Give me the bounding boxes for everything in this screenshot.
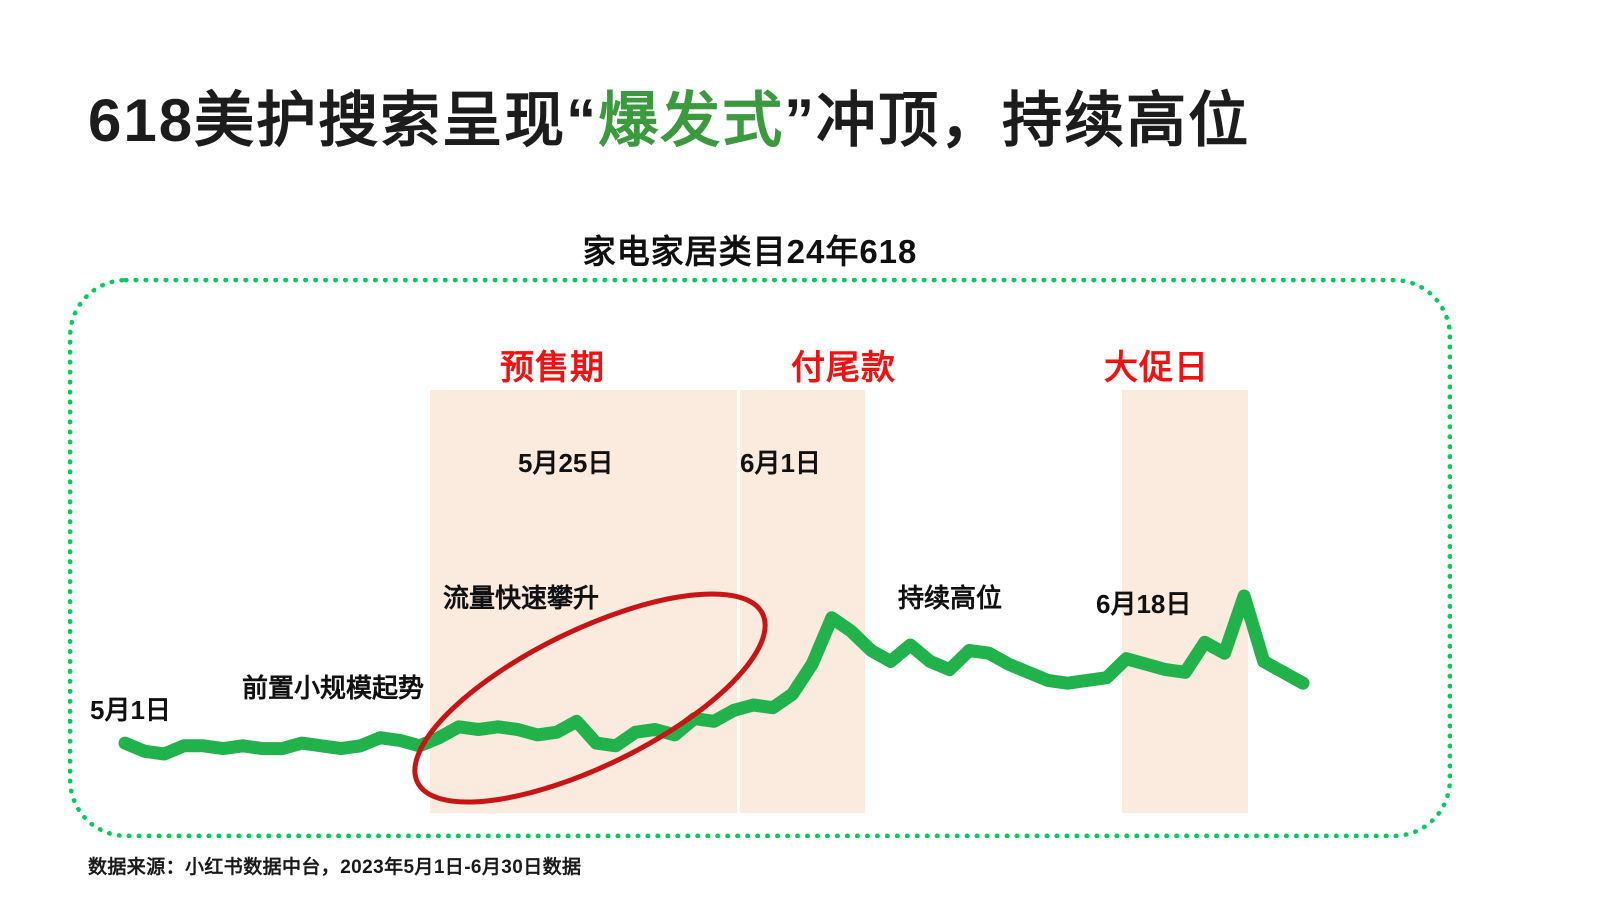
slide-canvas: 618美护搜索呈现“爆发式”冲顶，持续高位 家电家居类目24年618 预售期 付… xyxy=(0,0,1600,900)
chart-plot-area: 预售期 付尾款 大促日 5月1日 5月25日 6月1日 6月18日 前置小规模起… xyxy=(68,278,1452,840)
date-label-may-1: 5月1日 xyxy=(90,690,171,727)
annotation-early-buildup: 前置小规模起势 xyxy=(242,668,424,705)
date-label-may-25: 5月25日 xyxy=(518,443,613,480)
title-accent-text: 爆发式 xyxy=(598,87,784,154)
annotation-sustained-high: 持续高位 xyxy=(898,578,1002,615)
date-label-jun-18: 6月18日 xyxy=(1096,584,1191,621)
title-quote-open: “ xyxy=(566,87,598,154)
phase-label-presale: 预售期 xyxy=(500,340,605,389)
phase-label-promo-day: 大促日 xyxy=(1104,340,1209,389)
date-label-jun-1: 6月1日 xyxy=(740,443,821,480)
title-quote-close: ” xyxy=(784,87,816,154)
title-part-after: 冲顶，持续高位 xyxy=(816,87,1250,154)
page-title: 618美护搜索呈现“爆发式”冲顶，持续高位 xyxy=(88,88,1488,154)
title-part-before: 618美护搜索呈现 xyxy=(88,87,566,154)
annotation-rapid-climb: 流量快速攀升 xyxy=(443,578,599,615)
chart-subtitle: 家电家居类目24年618 xyxy=(0,225,1500,273)
phase-label-final-payment: 付尾款 xyxy=(791,340,896,389)
source-note: 数据来源：小红书数据中台，2023年5月1日-6月30日数据 xyxy=(88,852,581,879)
